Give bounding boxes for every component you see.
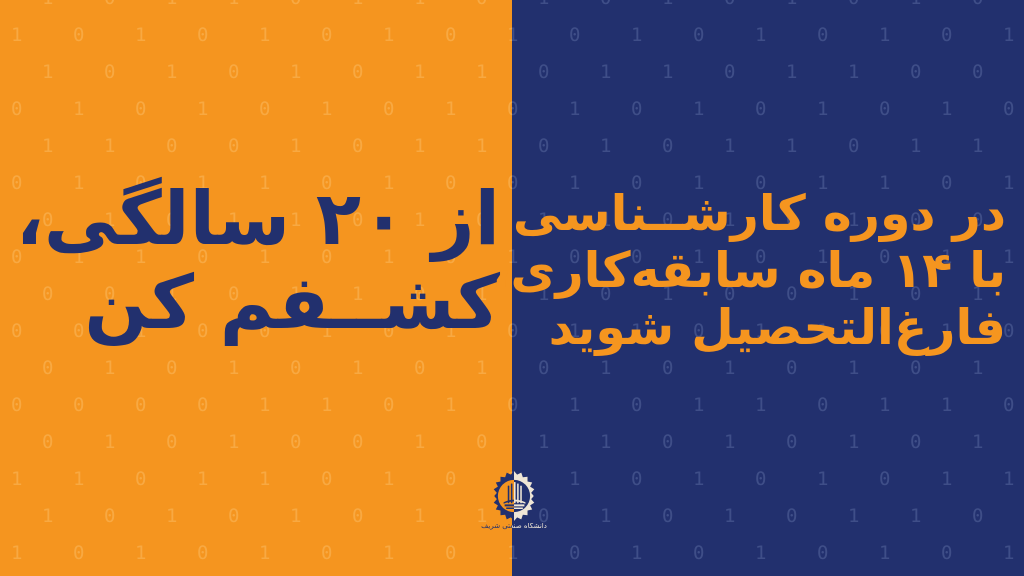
left-headline-line-1: از ۲۰ سالگی، [16,182,500,256]
right-headline-line-1: در دوره کارشــناسی [492,186,1006,243]
binary-digit: 0 [290,424,301,461]
binary-digit: 1 [166,54,177,91]
binary-digit: 1 [259,387,301,424]
binary-digit: 1 [631,535,673,572]
binary-digit: 1 [42,54,53,91]
left-headline: از ۲۰ سالگی، کشــفم کن [16,182,500,340]
binary-digit: 1 [512,17,549,54]
binary-digit: 1 [600,128,611,165]
binary-digit: 0 [383,91,425,128]
binary-digit: 1 [910,0,921,17]
binary-digit: 0 [228,54,239,91]
binary-digit: 1 [135,17,177,54]
binary-digit: 0 [538,54,549,91]
binary-digit: 0 [600,572,611,576]
binary-row: 01010101101010110 [0,498,512,535]
binary-digit: 0 [972,0,983,17]
binary-digit: 1 [941,91,983,128]
binary-digit: 0 [321,461,363,498]
binary-digit: 1 [197,91,239,128]
binary-digit: 1 [817,91,859,128]
binary-row: 01101101010101101 [512,572,1024,576]
binary-digit: 1 [662,572,673,576]
binary-digit: 1 [228,0,239,17]
binary-digit: 1 [73,91,115,128]
binary-digit: 1 [104,128,115,165]
binary-digit: 1 [724,498,735,535]
binary-digit: 1 [414,0,425,17]
binary-digit: 1 [228,350,239,387]
binary-digit: 1 [879,535,921,572]
binary-digit: 1 [383,535,425,572]
binary-digit: 1 [941,387,983,424]
binary-digit: 1 [228,424,239,461]
binary-digit: 0 [197,387,239,424]
binary-digit: 1 [383,461,425,498]
binary-digit: 1 [259,535,301,572]
binary-digit: 0 [166,128,177,165]
binary-row: 11011011010101010 [0,0,512,17]
binary-digit: 0 [321,17,363,54]
binary-digit: 0 [166,572,177,576]
binary-digit: 1 [383,17,425,54]
binary-row: 01101101010101101 [0,572,512,576]
binary-digit: 1 [569,91,611,128]
binary-digit: 1 [11,17,53,54]
binary-digit: 0 [941,535,983,572]
binary-digit: 1 [848,54,859,91]
binary-digit: 1 [848,572,859,576]
binary-digit: 1 [1003,535,1024,572]
binary-digit: 0 [352,128,363,165]
binary-digit: 1 [786,128,797,165]
binary-row: 11011010110101011 [11,461,512,498]
binary-digit: 1 [445,91,487,128]
binary-digit: 0 [817,535,859,572]
binary-digit: 0 [512,91,549,128]
binary-digit: 1 [414,572,425,576]
binary-digit: 1 [910,498,921,535]
binary-digit: 0 [290,0,301,17]
binary-digit: 1 [352,350,363,387]
binary-digit: 1 [755,535,797,572]
binary-digit: 0 [476,0,487,17]
binary-digit: 1 [321,91,363,128]
binary-row: 11100101101011011 [0,128,512,165]
binary-digit: 0 [11,91,53,128]
binary-digit: 1 [166,498,177,535]
binary-digit: 1 [693,461,735,498]
binary-digit: 1 [538,0,549,17]
binary-row: 10101001011010101 [512,424,1024,461]
binary-digit: 0 [1003,313,1024,350]
binary-digit: 0 [11,387,53,424]
binary-digit: 0 [73,17,115,54]
binary-digit: 1 [352,0,363,17]
binary-digit: 0 [512,387,549,424]
binary-digit: 0 [383,387,425,424]
binary-digit: 1 [73,461,115,498]
binary-digit: 1 [879,17,921,54]
binary-digit: 0 [631,91,673,128]
binary-digit: 1 [11,535,53,572]
binary-digit: 1 [848,498,859,535]
binary-digit: 0 [910,54,921,91]
gear-icon [488,470,540,522]
binary-digit: 0 [569,17,611,54]
binary-row: 11010101101101100 [0,54,512,91]
binary-digit: 0 [352,54,363,91]
binary-digit: 1 [569,461,611,498]
binary-digit: 1 [600,54,611,91]
binary-row: 11011011010101010 [512,0,1024,17]
binary-digit: 1 [662,54,673,91]
binary-digit: 1 [786,0,797,17]
binary-digit: 0 [600,0,611,17]
binary-digit: 0 [693,17,735,54]
binary-row: 11010101101101100 [512,54,1024,91]
binary-digit: 1 [476,350,487,387]
binary-digit: 0 [104,0,115,17]
binary-digit: 0 [135,387,177,424]
binary-digit: 1 [42,0,53,17]
binary-digit: 0 [724,572,735,576]
binary-digit: 0 [352,572,363,576]
binary-digit: 1 [414,54,425,91]
binary-digit: 1 [228,572,239,576]
binary-digit: 0 [259,91,301,128]
binary-row: 10101010101010101 [0,350,512,387]
binary-digit: 1 [42,572,53,576]
logo-caption: دانشگاه صنعتی شریف دانشگاه صنعتی شریف [462,523,566,533]
binary-digit: 1 [259,461,301,498]
binary-digit: 1 [631,17,673,54]
binary-row: 00001101010110110 [11,387,512,424]
binary-digit: 0 [352,498,363,535]
binary-digit: 1 [662,0,673,17]
binary-digit: 1 [104,572,115,576]
binary-digit: 1 [104,350,115,387]
binary-digit: 0 [476,424,487,461]
binary-digit: 1 [1003,165,1024,202]
binary-digit: 0 [538,128,549,165]
binary-digit: 0 [104,54,115,91]
binary-digit: 1 [42,498,53,535]
binary-digit: 1 [42,128,53,165]
binary-digit: 1 [569,387,611,424]
binary-digit: 1 [848,424,859,461]
binary-digit: 0 [941,17,983,54]
binary-digit: 1 [600,498,611,535]
left-headline-line-2: کشــفم کن [16,266,500,340]
binary-digit: 1 [755,387,797,424]
binary-digit: 0 [1003,91,1024,128]
binary-digit: 0 [42,350,53,387]
right-headline-line-3: فارغ‌التحصیل شوید [492,300,1006,357]
binary-row: 10101010101010101 [11,535,512,572]
binary-digit: 0 [228,498,239,535]
binary-row: 10101010101010101 [512,535,1024,572]
binary-digit: 0 [631,461,673,498]
binary-digit: 1 [290,54,301,91]
binary-digit: 1 [414,128,425,165]
binary-row: 10101001011010101 [0,424,512,461]
binary-digit: 0 [476,572,487,576]
binary-digit: 1 [693,387,735,424]
binary-digit: 1 [941,461,983,498]
binary-digit: 0 [569,535,611,572]
binary-row: 01010101010101010 [11,91,512,128]
binary-digit: 0 [321,535,363,572]
right-headline: در دوره کارشــناسی با ۱۴ ماه سابقه‌کاری،… [492,186,1006,356]
binary-digit: 0 [135,461,177,498]
binary-digit: 0 [42,424,53,461]
binary-digit: 1 [786,54,797,91]
binary-digit: 0 [135,91,177,128]
binary-digit: 0 [786,498,797,535]
binary-digit: 1 [1003,239,1024,276]
binary-digit: 1 [290,572,301,576]
binary-row: 10101010101010101 [512,17,1024,54]
binary-digit: 0 [197,17,239,54]
binary-row: 11011010110101011 [512,461,1024,498]
binary-digit: 1 [1003,461,1024,498]
binary-digit: 0 [848,0,859,17]
binary-digit: 0 [693,535,735,572]
binary-row: 11100101101011011 [512,128,1024,165]
binary-digit: 1 [755,17,797,54]
binary-digit: 0 [910,572,921,576]
binary-digit: 1 [414,424,425,461]
binary-digit: 1 [600,424,611,461]
binary-digit: 0 [445,17,487,54]
binary-digit: 0 [197,535,239,572]
binary-row: 01010101101010110 [512,498,1024,535]
binary-digit: 1 [786,572,797,576]
right-headline-line-2: با ۱۴ ماه سابقه‌کاری، [492,243,1006,300]
sharif-university-logo: دانشگاه صنعتی شریف دانشگاه صنعتی شریف [462,470,566,544]
binary-digit: 0 [879,461,921,498]
binary-digit: 0 [73,387,115,424]
binary-digit: 0 [662,424,673,461]
binary-digit: 0 [755,91,797,128]
binary-digit: 0 [910,424,921,461]
binary-digit: 1 [1003,17,1024,54]
binary-digit: 0 [662,498,673,535]
binary-digit: 1 [414,498,425,535]
binary-digit: 1 [972,424,983,461]
binary-digit: 1 [476,54,487,91]
binary-digit: 0 [166,350,177,387]
binary-digit: 1 [724,128,735,165]
binary-digit: 1 [445,387,487,424]
binary-digit: 1 [104,424,115,461]
binary-digit: 1 [290,128,301,165]
binary-digit: 0 [662,128,673,165]
binary-digit: 1 [135,535,177,572]
binary-digit: 0 [972,54,983,91]
binary-digit: 0 [1003,387,1024,424]
binary-digit: 1 [538,424,549,461]
binary-digit: 1 [724,424,735,461]
binary-digit: 1 [290,498,301,535]
binary-digit: 0 [848,128,859,165]
binary-digit: 0 [228,128,239,165]
binary-digit: 1 [972,572,983,576]
binary-row: 10101010101010101 [11,17,512,54]
binary-digit: 1 [259,17,301,54]
binary-digit: 0 [817,387,859,424]
binary-digit: 0 [631,387,673,424]
binary-digit: 0 [724,54,735,91]
binary-digit: 0 [724,0,735,17]
binary-digit: 1 [538,572,549,576]
binary-row: 00001101010110110 [512,387,1024,424]
binary-digit: 0 [414,350,425,387]
binary-digit: 0 [879,91,921,128]
binary-digit: 1 [693,91,735,128]
binary-digit: 1 [476,128,487,165]
binary-digit: 1 [879,387,921,424]
binary-digit: 1 [11,461,53,498]
binary-digit: 0 [166,424,177,461]
binary-digit: 0 [73,535,115,572]
binary-digit: 1 [321,387,363,424]
binary-digit: 1 [197,461,239,498]
binary-row: 01010101010101010 [512,91,1024,128]
binary-digit: 1 [972,128,983,165]
binary-digit: 1 [910,128,921,165]
binary-digit: 0 [352,424,363,461]
binary-digit: 0 [104,498,115,535]
promo-banner: 1101101101010101010101010101010101110101… [0,0,1024,576]
binary-digit: 1 [166,0,177,17]
binary-digit: 0 [755,461,797,498]
binary-digit: 1 [817,461,859,498]
binary-digit: 0 [290,350,301,387]
binary-digit: 0 [972,498,983,535]
binary-digit: 0 [786,424,797,461]
binary-digit: 0 [817,17,859,54]
